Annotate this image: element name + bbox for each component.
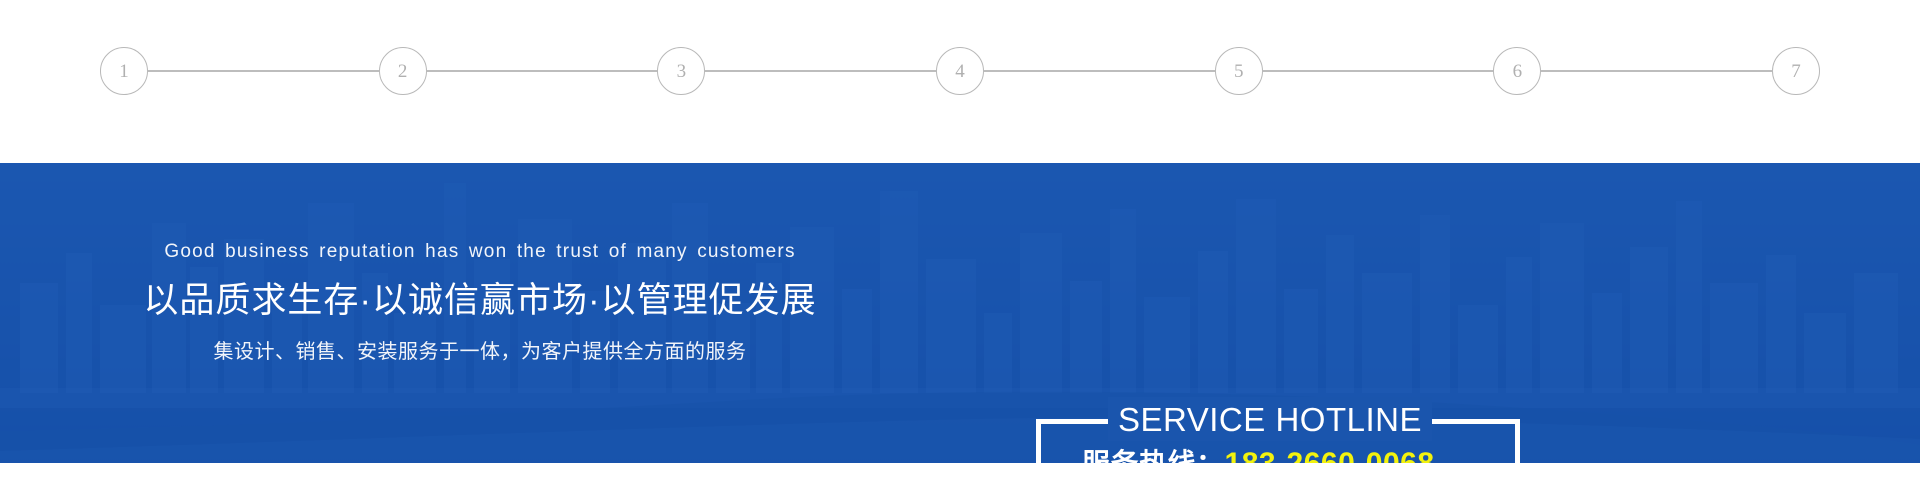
promo-banner: Good business reputation has won the tru… xyxy=(0,163,1920,463)
hotline-phone-primary[interactable]: 183-2660-0068 xyxy=(1225,449,1435,463)
step-connector-1 xyxy=(148,70,379,72)
slogan-english: Good business reputation has won the tru… xyxy=(0,241,960,263)
step-connector-3 xyxy=(705,70,936,72)
step-label: 4 xyxy=(955,62,965,81)
hotline-label: 服务热线： xyxy=(1082,450,1225,463)
step-node-5[interactable]: 5 xyxy=(1215,47,1263,95)
step-label: 2 xyxy=(398,62,408,81)
step-node-2[interactable]: 2 xyxy=(379,47,427,95)
hotline-row-primary: 服务热线： 183-2660-0068 xyxy=(1082,449,1520,463)
step-node-1[interactable]: 1 xyxy=(100,47,148,95)
step-connector-2 xyxy=(427,70,658,72)
hotline-title-wrap: SERVICE HOTLINE xyxy=(1108,397,1432,441)
stepper: 1 2 3 4 5 6 7 xyxy=(100,46,1820,96)
step-connector-6 xyxy=(1541,70,1772,72)
slogan-block: Good business reputation has won the tru… xyxy=(0,241,960,364)
slogan-subline: 集设计、销售、安装服务于一体，为客户提供全方面的服务 xyxy=(0,335,960,364)
step-label: 3 xyxy=(677,62,687,81)
step-node-7[interactable]: 7 xyxy=(1772,47,1820,95)
step-label: 6 xyxy=(1513,62,1523,81)
step-label: 7 xyxy=(1791,62,1801,81)
stepper-section: 1 2 3 4 5 6 7 xyxy=(0,0,1920,163)
step-node-6[interactable]: 6 xyxy=(1493,47,1541,95)
hotline-title: SERVICE HOTLINE xyxy=(1118,403,1422,436)
step-label: 1 xyxy=(119,62,129,81)
step-node-3[interactable]: 3 xyxy=(657,47,705,95)
hotline-rows: 服务热线： 183-2660-0068 0551-63749777 xyxy=(1036,449,1520,463)
step-connector-4 xyxy=(984,70,1215,72)
slogan-headline: 以品质求生存·以诚信赢市场·以管理促发展 xyxy=(0,272,960,323)
step-node-4[interactable]: 4 xyxy=(936,47,984,95)
step-connector-5 xyxy=(1263,70,1494,72)
service-hotline-box: SERVICE HOTLINE 服务热线： 183-2660-0068 0551… xyxy=(1036,419,1520,463)
step-label: 5 xyxy=(1234,62,1244,81)
